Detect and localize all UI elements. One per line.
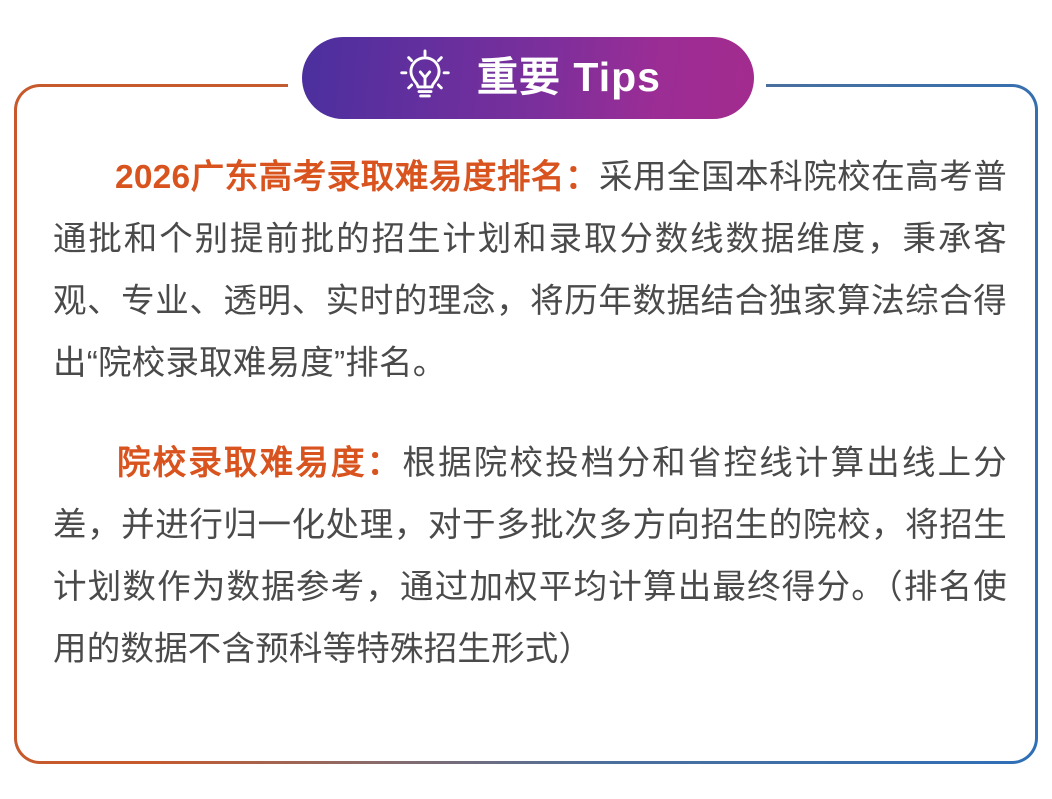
paragraph-lead-label: 院校录取难易度： xyxy=(115,445,402,482)
paragraph-lead-label: 2026广东高考录取难易度排名： xyxy=(115,159,599,196)
tips-content: 2026广东高考录取难易度排名：采用全国本科院校在高考普通批和个别提前批的招生计… xyxy=(53,147,1007,681)
tips-card: 2026广东高考录取难易度排名：采用全国本科院校在高考普通批和个别提前批的招生计… xyxy=(14,84,1038,764)
badge-title: 重要 Tips xyxy=(477,57,661,98)
lightbulb-icon xyxy=(395,47,455,107)
paragraph-ranking-definition: 2026广东高考录取难易度排名：采用全国本科院校在高考普通批和个别提前批的招生计… xyxy=(53,147,1007,395)
paragraph-difficulty-definition: 院校录取难易度：根据院校投档分和省控线计算出线上分差，并进行归一化处理，对于多批… xyxy=(53,433,1007,681)
important-tips-badge: 重要 Tips xyxy=(302,37,754,119)
badge-content: 重要 Tips xyxy=(395,47,661,107)
